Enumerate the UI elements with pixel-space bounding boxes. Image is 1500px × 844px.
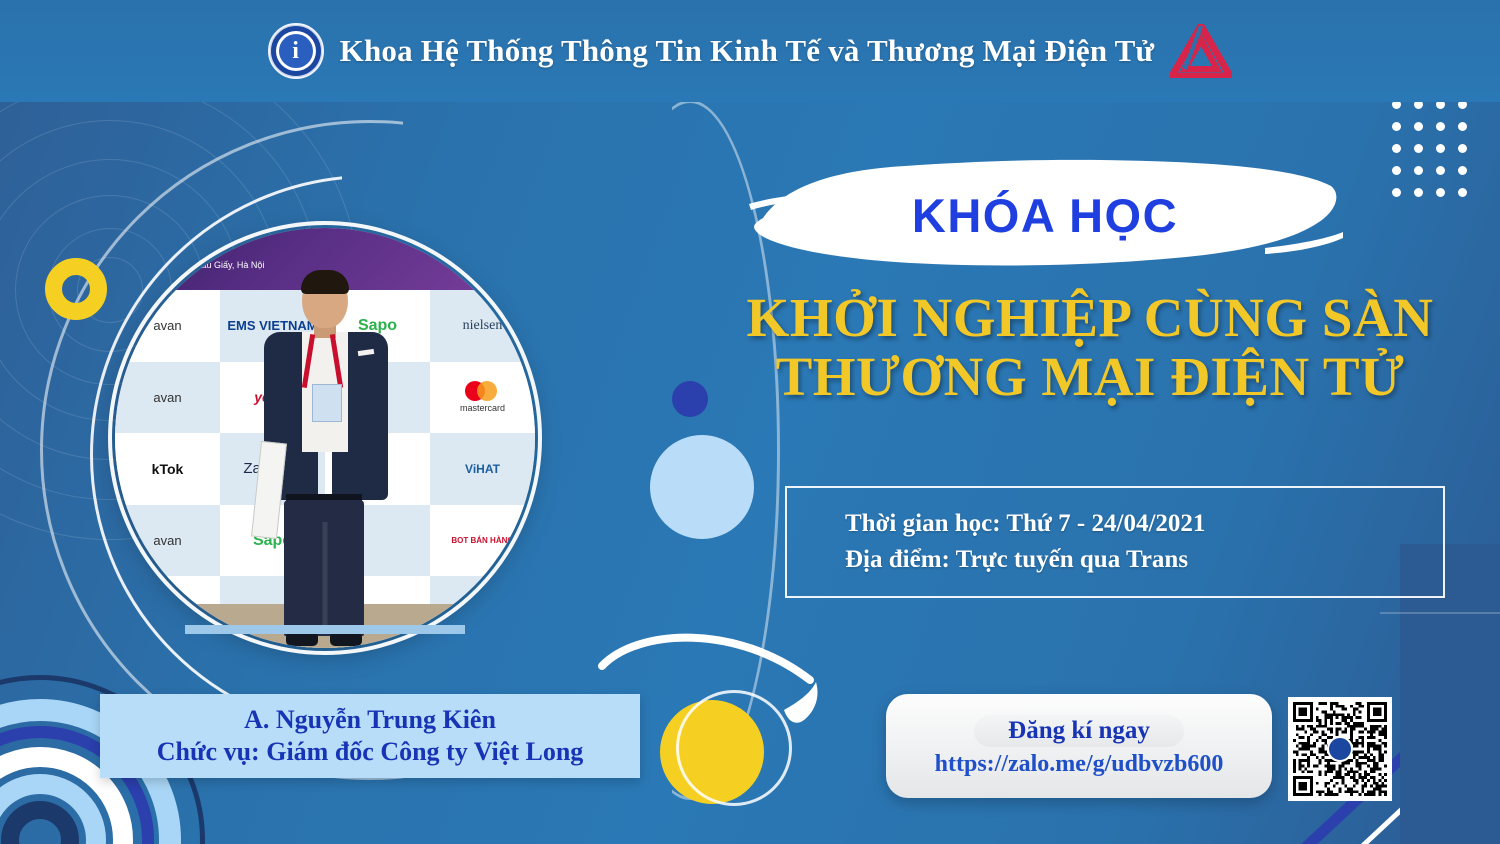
logo-letter-i: i [292,39,299,63]
header-title: Khoa Hệ Thống Thông Tin Kinh Tế và Thươn… [340,33,1155,69]
course-time: Thời gian học: Thứ 7 - 24/04/2021 [845,510,1443,538]
qr-center-logo-icon [1327,736,1353,762]
dot-grid-decoration [1392,100,1480,210]
register-url[interactable]: https://zalo.me/g/udbvzb600 [935,751,1224,778]
light-blue-circle-decoration [650,435,754,539]
main-title: KHỞI NGHIỆP CÙNG SÀN THƯƠNG MẠI ĐIỆN TỬ [700,288,1480,407]
qr-code[interactable] [1288,697,1392,801]
curved-arrow-icon [598,618,898,748]
speaker-info-card: A. Nguyễn Trung Kiên Chức vụ: Giám đốc C… [100,694,640,778]
backdrop-date: ...10.2020 [167,246,207,258]
thin-line-decoration [1380,612,1500,614]
brush-title-text: KHÓA HỌC [745,154,1345,276]
photo-ring-decoration [108,221,542,655]
main-title-line-2: THƯƠNG MẠI ĐIỆN TỬ [700,347,1480,406]
photo-underline-decoration [185,625,465,634]
university-logo-icon: i [268,23,324,79]
speaker-name: A. Nguyễn Trung Kiên [244,705,496,735]
main-title-line-1: KHỞI NGHIỆP CÙNG SÀN [700,288,1480,347]
speaker-role: Chức vụ: Giám đốc Công ty Việt Long [157,737,584,767]
course-info-box: Thời gian học: Thứ 7 - 24/04/2021 Địa đi… [785,486,1445,598]
register-pill[interactable]: Đăng kí ngay [974,715,1184,747]
register-label: Đăng kí ngay [1008,717,1150,744]
yellow-ring-decoration [45,258,107,320]
triangle-logo-icon [1170,24,1232,78]
poster: i Khoa Hệ Thống Thông Tin Kinh Tế và Thư… [0,0,1500,844]
course-location: Địa điểm: Trực tuyến qua Trans [845,546,1443,574]
brush-stroke-title: KHÓA HỌC [745,152,1345,274]
register-button[interactable]: Đăng kí ngay https://zalo.me/g/udbvzb600 [886,694,1272,798]
header-bar: i Khoa Hệ Thống Thông Tin Kinh Tế và Thư… [0,0,1500,102]
